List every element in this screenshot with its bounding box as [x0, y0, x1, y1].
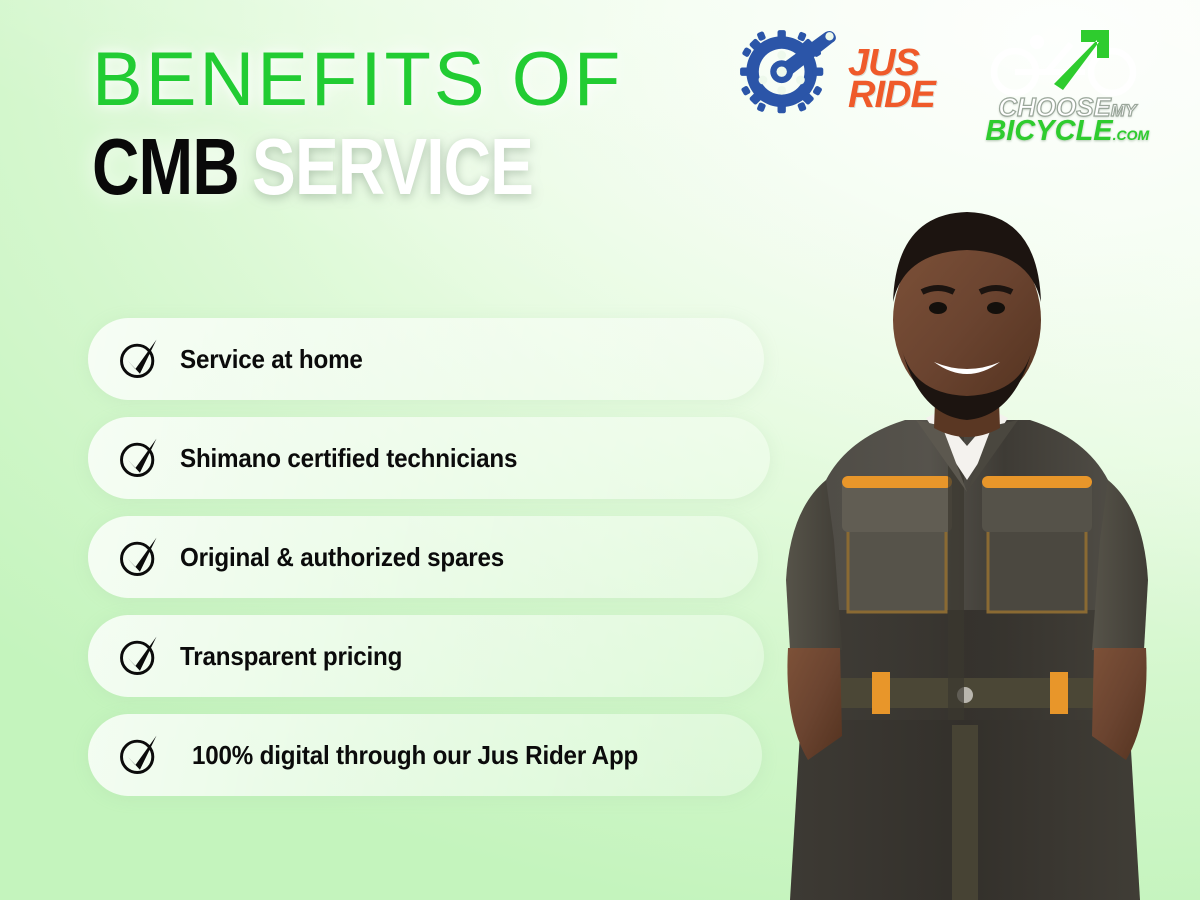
benefit-label: Original & authorized spares [180, 542, 504, 573]
jusride-line-2: RIDE [848, 80, 935, 112]
benefit-label: Service at home [180, 344, 363, 375]
cmb-line-2: BICYCLE.COM [985, 119, 1149, 144]
cmb-bicycle-text: BICYCLE [985, 115, 1112, 147]
logo-choosemybicycle[interactable]: CHOOSEMY BICYCLE.COM [975, 28, 1160, 144]
check-circle-icon [116, 534, 162, 580]
cmb-dotcom-text: .COM [1113, 127, 1150, 143]
logo-jusride[interactable]: JUS RIDE [738, 28, 935, 132]
check-circle-icon [116, 336, 162, 382]
benefit-item-4[interactable]: Transparent pricing [88, 615, 764, 697]
logo-bar: JUS RIDE CHOOSEMY [738, 28, 1160, 144]
benefit-item-3[interactable]: Original & authorized spares [88, 516, 758, 598]
check-circle-icon [116, 633, 162, 679]
headline-block: BENEFITS OF CMBSERVICE [92, 44, 630, 207]
chest-pocket-right [982, 476, 1092, 612]
headline-line-1: BENEFITS OF [92, 44, 630, 116]
benefit-item-1[interactable]: Service at home [88, 318, 764, 400]
belt-loop-left [872, 672, 890, 714]
eye-right [987, 302, 1005, 314]
check-circle-icon [116, 435, 162, 481]
headline-service: SERVICE [252, 122, 533, 211]
benefit-label: Transparent pricing [180, 641, 402, 672]
poster-canvas: BENEFITS OF CMBSERVICE [0, 0, 1200, 900]
cmb-my-text: MY [1111, 101, 1137, 120]
benefits-list: Service at home Shimano certified techni… [88, 318, 770, 813]
benefit-item-5[interactable]: 100% digital through our Jus Rider App [88, 714, 762, 796]
check-circle-icon [116, 732, 162, 778]
headline-line-2: CMBSERVICE [92, 128, 533, 206]
belt-loop-right [1050, 672, 1068, 714]
eye-left [929, 302, 947, 314]
benefit-item-2[interactable]: Shimano certified technicians [88, 417, 770, 499]
jusride-wordmark: JUS RIDE [848, 48, 935, 112]
technician-photo [730, 180, 1200, 900]
chainring-crank-icon [738, 28, 842, 132]
bicycle-arrow-icon [975, 28, 1160, 98]
headline-brand: CMB [92, 122, 239, 211]
choosemybicycle-wordmark: CHOOSEMY BICYCLE.COM [985, 96, 1149, 144]
benefit-label: Shimano certified technicians [180, 443, 517, 474]
benefit-label: 100% digital through our Jus Rider App [192, 740, 638, 771]
chest-pocket-left [842, 476, 952, 612]
